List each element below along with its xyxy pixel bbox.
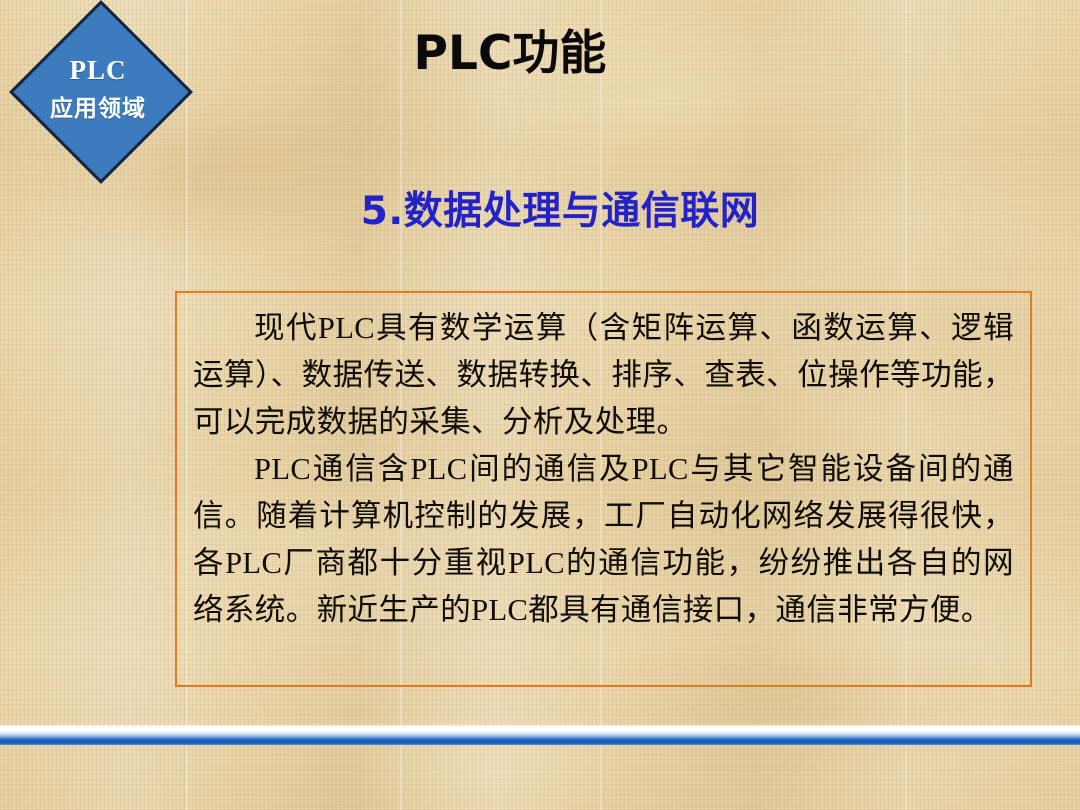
plc-application-domain-badge: PLC 应用领域: [10, 1, 186, 177]
content-box: 现代PLC具有数学运算（含矩阵运算、函数运算、逻辑运算）、数据传送、数据转换、排…: [175, 291, 1032, 687]
content-box-inner: 现代PLC具有数学运算（含矩阵运算、函数运算、逻辑运算）、数据传送、数据转换、排…: [177, 293, 1030, 642]
page-title: PLC功能: [200, 28, 820, 80]
divider-blue-rule: [0, 740, 1080, 745]
divider-gradient-band: [0, 724, 1080, 740]
body-paragraph-2: PLC通信含PLC间的通信及PLC与其它智能设备间的通信。随着计算机控制的发展，…: [193, 446, 1014, 634]
section-subtitle: 5.数据处理与通信联网: [140, 190, 980, 235]
slide-canvas: PLC 应用领域 PLC功能 5.数据处理与通信联网 现代PLC具有数学运算（含…: [0, 0, 1080, 810]
bottom-divider: [0, 724, 1080, 746]
body-paragraph-1: 现代PLC具有数学运算（含矩阵运算、函数运算、逻辑运算）、数据传送、数据转换、排…: [193, 305, 1014, 446]
diamond-shape-icon: [9, 0, 193, 184]
